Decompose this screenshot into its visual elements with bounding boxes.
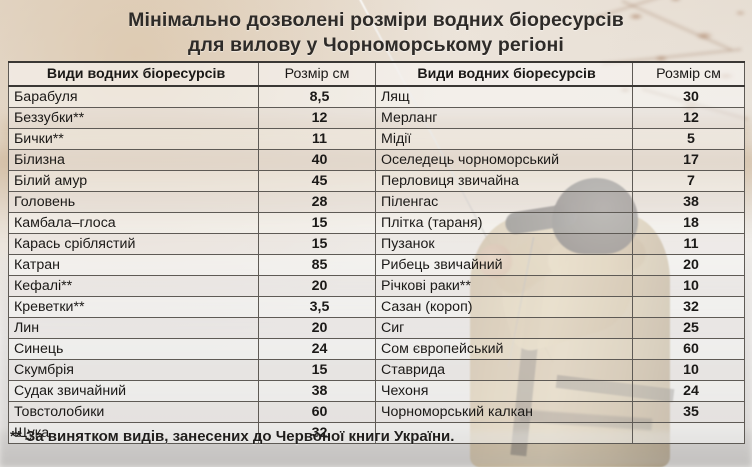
infographic-screenshot: Мінімально дозволені розміри водних біор…	[0, 0, 752, 467]
cell-name-right: Річкові раки**	[376, 276, 633, 297]
fish-size-table: Види водних біоресурсів Розмір см Види в…	[8, 61, 745, 444]
cell-size-right: 17	[633, 150, 745, 171]
table-row: Катран85Рибець звичайний20	[9, 255, 745, 276]
table-row: Білий амур45Перловиця звичайна7	[9, 171, 745, 192]
cell-size-left: 45	[259, 171, 376, 192]
cell-name-right: Чорноморський калкан	[376, 402, 633, 423]
cell-name-right: Пузанок	[376, 234, 633, 255]
cell-size-left: 40	[259, 150, 376, 171]
cell-name-left: Бички**	[9, 129, 259, 150]
cell-size-right	[633, 423, 745, 444]
cell-size-left: 28	[259, 192, 376, 213]
cell-size-left: 15	[259, 213, 376, 234]
cell-name-left: Беззубки**	[9, 108, 259, 129]
cell-name-right: Чехоня	[376, 381, 633, 402]
table-row: Товстолобики60Чорноморський калкан35	[9, 402, 745, 423]
table-head: Види водних біоресурсів Розмір см Види в…	[9, 62, 745, 86]
column-header-size-left: Розмір см	[259, 62, 376, 86]
table-row: Білизна40Оселедець чорноморський17	[9, 150, 745, 171]
table-row: Бички**11Мідії5	[9, 129, 745, 150]
table-row: Барабуля8,5Лящ30	[9, 86, 745, 108]
cell-name-left: Судак звичайний	[9, 381, 259, 402]
cell-size-right: 10	[633, 360, 745, 381]
cell-name-left: Товстолобики	[9, 402, 259, 423]
cell-name-right: Ставрида	[376, 360, 633, 381]
cell-name-left: Скумбрія	[9, 360, 259, 381]
cell-name-right: Перловиця звичайна	[376, 171, 633, 192]
cell-size-left: 38	[259, 381, 376, 402]
page-title-line1: Мінімально дозволені розміри водних біор…	[128, 9, 624, 31]
cell-size-right: 11	[633, 234, 745, 255]
cell-size-left: 12	[259, 108, 376, 129]
cell-size-left: 24	[259, 339, 376, 360]
cell-name-right: Піленгас	[376, 192, 633, 213]
page-title-line2: для вилову у Чорноморському регіоні	[0, 33, 752, 58]
table-header-row: Види водних біоресурсів Розмір см Види в…	[9, 62, 745, 86]
column-header-name-right: Види водних біоресурсів	[376, 62, 633, 86]
cell-name-right: Мідії	[376, 129, 633, 150]
table-row: Камбала–глоса15Плітка (тараня)18	[9, 213, 745, 234]
cell-size-left: 3,5	[259, 297, 376, 318]
cell-name-left: Катран	[9, 255, 259, 276]
cell-size-right: 60	[633, 339, 745, 360]
cell-name-left: Синець	[9, 339, 259, 360]
table-row: Головень28Піленгас38	[9, 192, 745, 213]
cell-size-right: 7	[633, 171, 745, 192]
cell-size-right: 25	[633, 318, 745, 339]
cell-size-right: 12	[633, 108, 745, 129]
table-row: Беззубки**12Мерланг12	[9, 108, 745, 129]
cell-size-right: 30	[633, 86, 745, 108]
cell-size-right: 18	[633, 213, 745, 234]
table-body: Барабуля8,5Лящ30Беззубки**12Мерланг12Бич…	[9, 86, 745, 444]
content-layer: Мінімально дозволені розміри водних біор…	[0, 0, 752, 467]
cell-name-right: Рибець звичайний	[376, 255, 633, 276]
column-header-name-left: Види водних біоресурсів	[9, 62, 259, 86]
cell-size-right: 24	[633, 381, 745, 402]
cell-name-left: Білизна	[9, 150, 259, 171]
table-row: Креветки**3,5Сазан (короп)32	[9, 297, 745, 318]
cell-name-left: Білий амур	[9, 171, 259, 192]
cell-name-left: Лин	[9, 318, 259, 339]
cell-size-left: 20	[259, 276, 376, 297]
cell-size-left: 20	[259, 318, 376, 339]
table-row: Кефалі**20Річкові раки**10	[9, 276, 745, 297]
table-row: Скумбрія15Ставрида10	[9, 360, 745, 381]
cell-name-right: Оселедець чорноморський	[376, 150, 633, 171]
cell-name-right: Плітка (тараня)	[376, 213, 633, 234]
cell-name-left: Барабуля	[9, 86, 259, 108]
cell-name-right: Лящ	[376, 86, 633, 108]
table-row: Карась сріблястий15Пузанок11	[9, 234, 745, 255]
cell-size-right: 35	[633, 402, 745, 423]
table-row: Лин20Сиг25	[9, 318, 745, 339]
cell-name-right: Сазан (короп)	[376, 297, 633, 318]
cell-size-right: 20	[633, 255, 745, 276]
cell-name-right: Сом європейський	[376, 339, 633, 360]
cell-size-right: 38	[633, 192, 745, 213]
cell-size-left: 15	[259, 360, 376, 381]
cell-size-right: 32	[633, 297, 745, 318]
footnote: ** За винятком видів, занесених до Черво…	[10, 428, 454, 445]
page-title: Мінімально дозволені розміри водних біор…	[0, 8, 752, 58]
cell-name-left: Креветки**	[9, 297, 259, 318]
column-header-size-right: Розмір см	[633, 62, 745, 86]
cell-name-left: Головень	[9, 192, 259, 213]
cell-size-left: 11	[259, 129, 376, 150]
cell-size-right: 5	[633, 129, 745, 150]
cell-size-left: 8,5	[259, 86, 376, 108]
cell-name-right: Мерланг	[376, 108, 633, 129]
cell-size-right: 10	[633, 276, 745, 297]
table-row: Судак звичайний38Чехоня24	[9, 381, 745, 402]
table-row: Синець24Сом європейський60	[9, 339, 745, 360]
cell-size-left: 15	[259, 234, 376, 255]
cell-name-left: Кефалі**	[9, 276, 259, 297]
cell-size-left: 60	[259, 402, 376, 423]
cell-name-left: Карась сріблястий	[9, 234, 259, 255]
cell-name-right: Сиг	[376, 318, 633, 339]
cell-name-left: Камбала–глоса	[9, 213, 259, 234]
cell-size-left: 85	[259, 255, 376, 276]
